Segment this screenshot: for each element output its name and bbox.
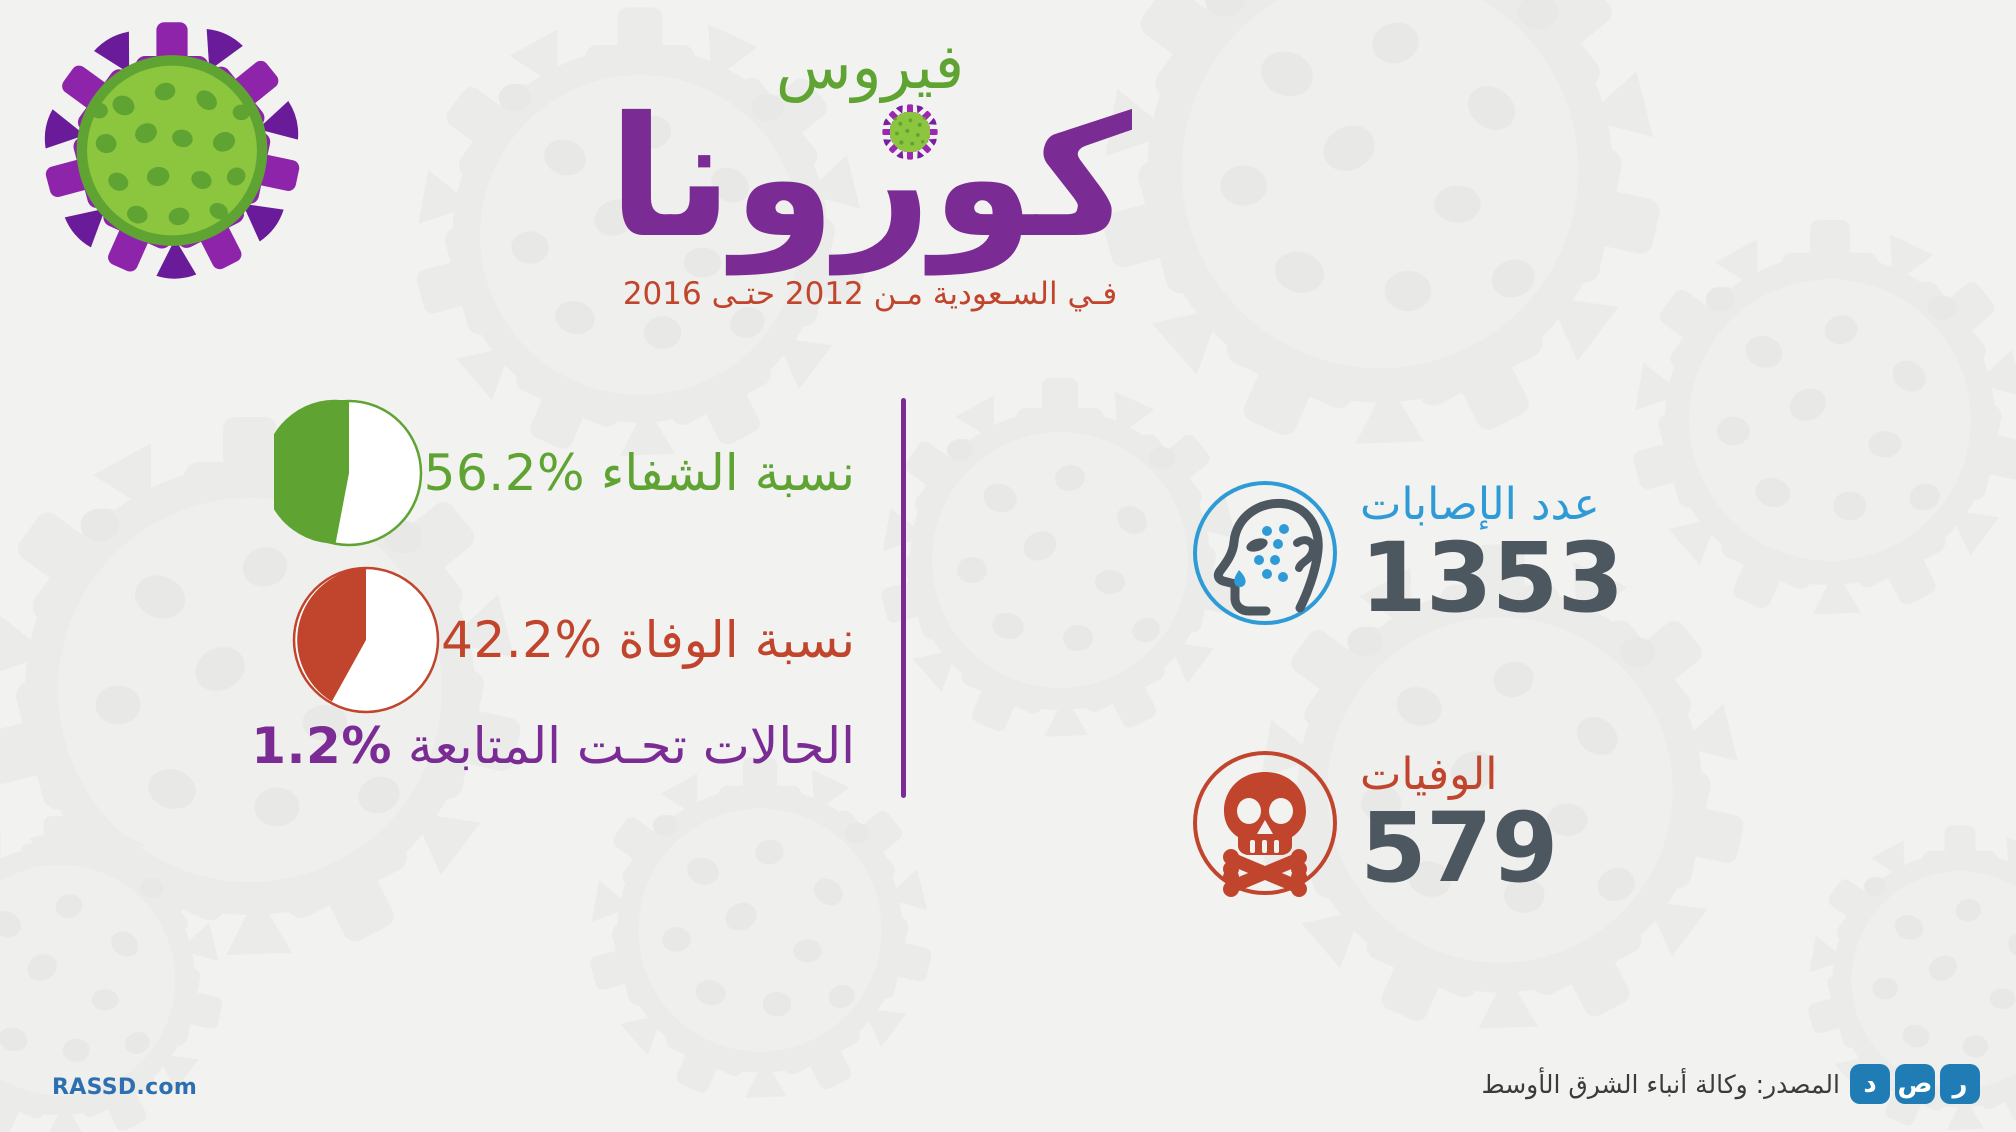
recovery-pie-chart [274, 398, 424, 548]
stat-value-deaths: 579 [1360, 800, 1557, 896]
stat-block-deaths: الوفيات 579 [1190, 748, 1565, 898]
stat-block-cases: عدد الإصابات 1353 [1190, 478, 1631, 628]
stat-text-cases: عدد الإصابات 1353 [1340, 480, 1623, 626]
logo-letter-sad: ص [1895, 1064, 1935, 1104]
logo-letter-dal: د [1850, 1064, 1890, 1104]
rate-label-recovery: نسبة الشفاء [601, 444, 855, 502]
rate-text-followup: الحالات تحـت المتابعة 1.2% [251, 718, 855, 774]
coronavirus-illustration-icon [42, 18, 302, 283]
logo-letter-ra: ر [1940, 1064, 1980, 1104]
rate-percent-death: 42.2% [441, 612, 602, 668]
rate-percent-recovery: 56.2% [424, 445, 585, 501]
title-word-corona: كورونا [560, 86, 1180, 272]
footer-watermark[interactable]: RASSD.com [52, 1075, 197, 1100]
rate-label-death: نسبة الوفاة [618, 611, 855, 669]
rate-row-death: نسبة الوفاة 42.2% [291, 565, 881, 715]
rate-row-followup: الحالات تحـت المتابعة 1.2% [251, 718, 881, 774]
infected-head-icon [1190, 478, 1340, 628]
infographic-canvas: فيروس كورونا [0, 0, 2016, 1132]
rassd-logo[interactable]: ر ص د [1850, 1064, 1980, 1104]
stat-text-deaths: الوفيات 579 [1340, 750, 1557, 896]
rate-label-followup: الحالات تحـت المتابعة [408, 717, 855, 775]
corona-dot-virus-icon [882, 104, 938, 160]
rate-row-recovery: نسبة الشفاء 56.2% [274, 398, 881, 548]
section-divider [901, 398, 906, 798]
rate-text-recovery: نسبة الشفاء 56.2% [424, 445, 855, 501]
stat-value-cases: 1353 [1360, 530, 1623, 626]
rate-percent-followup: 1.2% [251, 718, 392, 774]
skull-crossbones-icon [1190, 748, 1340, 898]
footer-source: ر ص د المصدر: وكالة أنباء الشرق الأوسط [1481, 1064, 1980, 1104]
death-pie-chart [291, 565, 441, 715]
title-main-wrap: كورونا [560, 86, 1180, 266]
title-block: فيروس كورونا [560, 34, 1180, 312]
rate-text-death: نسبة الوفاة 42.2% [441, 612, 855, 668]
subtitle-date-range: فـي السـعودية مـن 2012 حتـى 2016 [560, 276, 1180, 312]
footer-source-text: المصدر: وكالة أنباء الشرق الأوسط [1481, 1070, 1840, 1099]
